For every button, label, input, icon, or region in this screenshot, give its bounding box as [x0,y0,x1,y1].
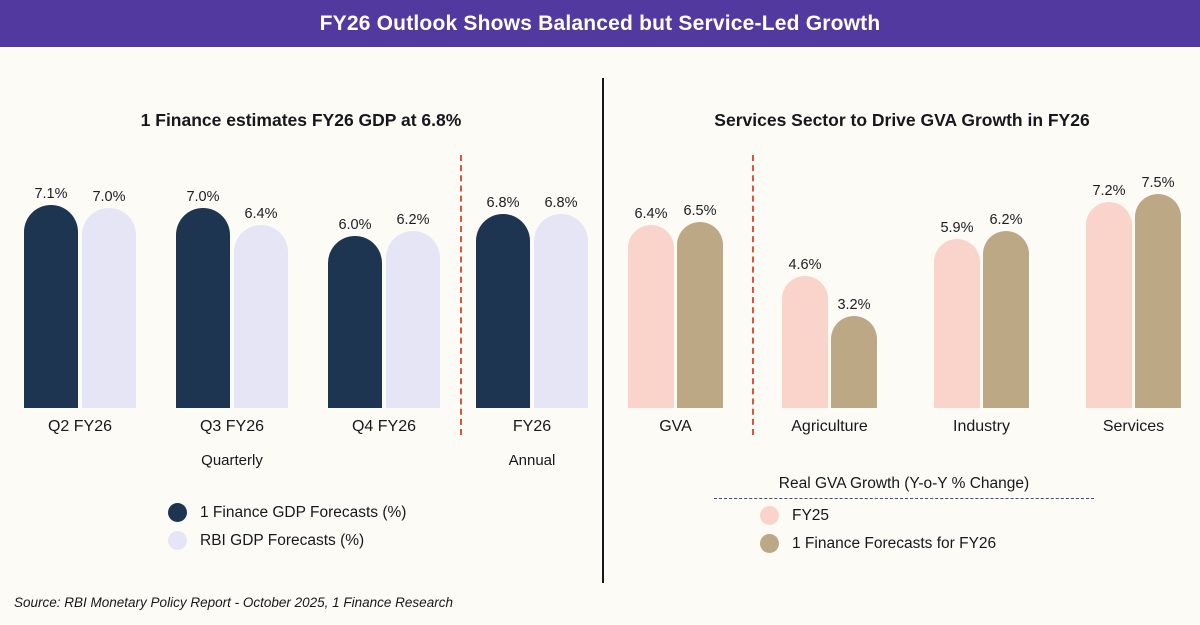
bar-fy26-1finance[interactable] [476,214,530,408]
bar-q4-1finance[interactable] [328,236,382,408]
bar-services-fy26[interactable] [1135,194,1181,409]
bar-label-industry-fy25: 5.9% [934,220,980,236]
bar-label-q3-rbi: 6.4% [234,206,288,222]
cat-label-q4: Q4 FY26 [328,418,440,436]
legend-divider [714,498,1094,499]
page-title: FY26 Outlook Shows Balanced but Service-… [320,12,881,36]
bar-q2-1finance[interactable] [24,205,78,408]
cat-label-services: Services [1086,418,1181,436]
legend-label-1finance-gdp: 1 Finance GDP Forecasts (%) [200,504,406,522]
bar-q2-rbi[interactable] [82,208,136,408]
bar-label-q4-1finance: 6.0% [328,217,382,233]
cat-label-industry: Industry [934,418,1029,436]
header-bar: FY26 Outlook Shows Balanced but Service-… [0,0,1200,47]
legend-swatch-lavender-circle-icon [168,531,187,550]
legend-item-fy25[interactable]: FY25 [760,506,1094,525]
bar-industry-fy26[interactable] [983,231,1029,408]
bar-label-services-fy26: 7.5% [1135,175,1181,191]
bar-label-q4-rbi: 6.2% [386,212,440,228]
bar-label-industry-fy26: 6.2% [983,212,1029,228]
bar-agriculture-fy25[interactable] [782,276,828,408]
bar-q4-rbi[interactable] [386,231,440,408]
bar-q3-1finance[interactable] [176,208,230,408]
bar-fy26-rbi[interactable] [534,214,588,408]
left-group-separator [460,155,462,435]
bar-services-fy25[interactable] [1086,202,1132,408]
cat-label-agriculture: Agriculture [782,418,877,436]
cat-label-q3: Q3 FY26 [176,418,288,436]
bar-agriculture-fy26[interactable] [831,316,877,408]
legend-item-fy26[interactable]: 1 Finance Forecasts for FY26 [760,534,1094,553]
bar-q3-rbi[interactable] [234,225,288,408]
group-label-quarterly: Quarterly [176,452,288,469]
cat-label-gva: GVA [628,418,723,436]
bar-label-agriculture-fy26: 3.2% [831,297,877,313]
bar-gva-fy25[interactable] [628,225,674,408]
right-chart-panel: Services Sector to Drive GVA Growth in F… [604,47,1200,625]
bar-label-q2-rbi: 7.0% [82,189,136,205]
bar-label-gva-fy26: 6.5% [677,203,723,219]
chart-canvas: 1 Finance estimates FY26 GDP at 6.8% 7.1… [0,47,1200,625]
bar-label-q3-1finance: 7.0% [176,189,230,205]
legend-label-fy25: FY25 [792,507,829,525]
right-chart-legend: Real GVA Growth (Y-o-Y % Change) FY25 1 … [714,475,1094,562]
bar-label-gva-fy25: 6.4% [628,206,674,222]
bar-label-q2-1finance: 7.1% [24,186,78,202]
source-note: Source: RBI Monetary Policy Report - Oct… [14,595,453,610]
right-group-separator [752,155,754,435]
left-chart-legend: 1 Finance GDP Forecasts (%) RBI GDP Fore… [168,503,406,559]
legend-item-rbi-gdp[interactable]: RBI GDP Forecasts (%) [168,531,406,550]
group-label-annual: Annual [476,452,588,469]
legend-swatch-pink-circle-icon [760,506,779,525]
legend-swatch-navy-circle-icon [168,503,187,522]
bar-label-agriculture-fy25: 4.6% [782,257,828,273]
right-legend-title: Real GVA Growth (Y-o-Y % Change) [714,475,1094,493]
bar-industry-fy25[interactable] [934,239,980,408]
bar-gva-fy26[interactable] [677,222,723,408]
legend-swatch-tan-circle-icon [760,534,779,553]
cat-label-fy26: FY26 [476,418,588,436]
left-chart-panel: 1 Finance estimates FY26 GDP at 6.8% 7.1… [0,47,602,625]
bar-label-fy26-rbi: 6.8% [534,195,588,211]
legend-label-rbi-gdp: RBI GDP Forecasts (%) [200,532,364,550]
cat-label-q2: Q2 FY26 [24,418,136,436]
bar-label-services-fy25: 7.2% [1086,183,1132,199]
legend-label-fy26: 1 Finance Forecasts for FY26 [792,535,996,553]
legend-item-1finance-gdp[interactable]: 1 Finance GDP Forecasts (%) [168,503,406,522]
bar-label-fy26-1finance: 6.8% [476,195,530,211]
